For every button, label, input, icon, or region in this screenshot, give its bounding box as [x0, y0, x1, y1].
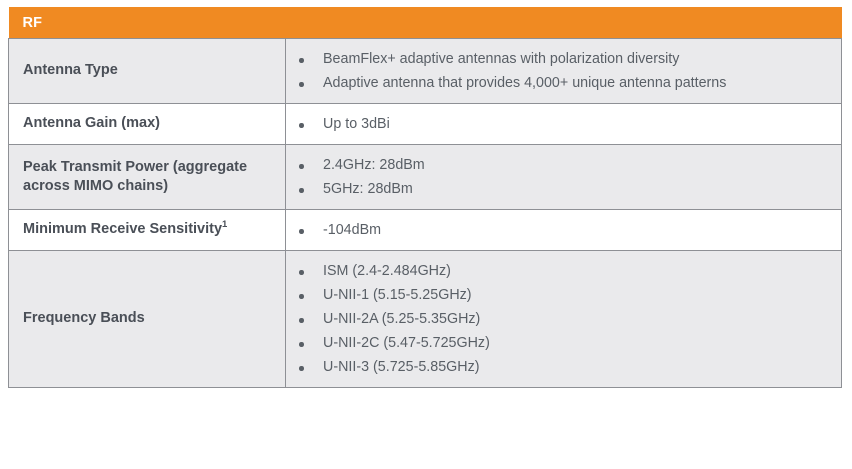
spec-value-cell: -104dBm [286, 210, 842, 251]
list-item: 2.4GHz: 28dBm [286, 153, 831, 177]
list-item: Adaptive antenna that provides 4,000+ un… [286, 71, 831, 95]
spec-label: Antenna Gain (max) [23, 115, 160, 131]
spec-value-list: BeamFlex+ adaptive antennas with polariz… [286, 47, 831, 95]
spec-label-cell: Peak Transmit Power (aggregate across MI… [9, 145, 286, 210]
spec-value-cell: 2.4GHz: 28dBm5GHz: 28dBm [286, 145, 842, 210]
table-row: Peak Transmit Power (aggregate across MI… [9, 145, 842, 210]
spec-rows-container: Antenna TypeBeamFlex+ adaptive antennas … [9, 39, 842, 388]
list-item: U-NII-2A (5.25-5.35GHz) [286, 307, 831, 331]
table-row: Minimum Receive Sensitivity1-104dBm [9, 210, 842, 251]
rf-specification-table: RF Antenna TypeBeamFlex+ adaptive antenn… [8, 7, 842, 388]
spec-value-list: ISM (2.4-2.484GHz)U-NII-1 (5.15-5.25GHz)… [286, 259, 831, 379]
list-item: 5GHz: 28dBm [286, 177, 831, 201]
list-item: BeamFlex+ adaptive antennas with polariz… [286, 47, 831, 71]
spec-label: Frequency Bands [23, 310, 145, 326]
spec-label-cell: Minimum Receive Sensitivity1 [9, 210, 286, 251]
spec-value-list: 2.4GHz: 28dBm5GHz: 28dBm [286, 153, 831, 201]
list-item: ISM (2.4-2.484GHz) [286, 259, 831, 283]
spec-label: Minimum Receive Sensitivity1 [23, 221, 227, 237]
spec-label-footnote-marker: 1 [222, 220, 227, 231]
spec-label-cell: Frequency Bands [9, 251, 286, 388]
table-row: Antenna Gain (max)Up to 3dBi [9, 104, 842, 145]
spec-value-cell: BeamFlex+ adaptive antennas with polariz… [286, 39, 842, 104]
spec-value-list: -104dBm [286, 218, 831, 242]
list-item: U-NII-1 (5.15-5.25GHz) [286, 283, 831, 307]
section-header-cell: RF [9, 7, 842, 39]
list-item: -104dBm [286, 218, 831, 242]
spec-label: Antenna Type [23, 62, 118, 78]
list-item: U-NII-2C (5.47-5.725GHz) [286, 331, 831, 355]
spec-label-cell: Antenna Type [9, 39, 286, 104]
spec-table-body: RF [9, 7, 842, 39]
table-row: Antenna TypeBeamFlex+ adaptive antennas … [9, 39, 842, 104]
table-row: Frequency BandsISM (2.4-2.484GHz)U-NII-1… [9, 251, 842, 388]
spec-label-cell: Antenna Gain (max) [9, 104, 286, 145]
list-item: Up to 3dBi [286, 112, 831, 136]
spec-value-list: Up to 3dBi [286, 112, 831, 136]
spec-value-cell: Up to 3dBi [286, 104, 842, 145]
section-header-title: RF [23, 15, 43, 31]
spec-value-cell: ISM (2.4-2.484GHz)U-NII-1 (5.15-5.25GHz)… [286, 251, 842, 388]
list-item: U-NII-3 (5.725-5.85GHz) [286, 355, 831, 379]
section-header-row: RF [9, 7, 842, 39]
spec-label: Peak Transmit Power (aggregate across MI… [23, 159, 247, 194]
